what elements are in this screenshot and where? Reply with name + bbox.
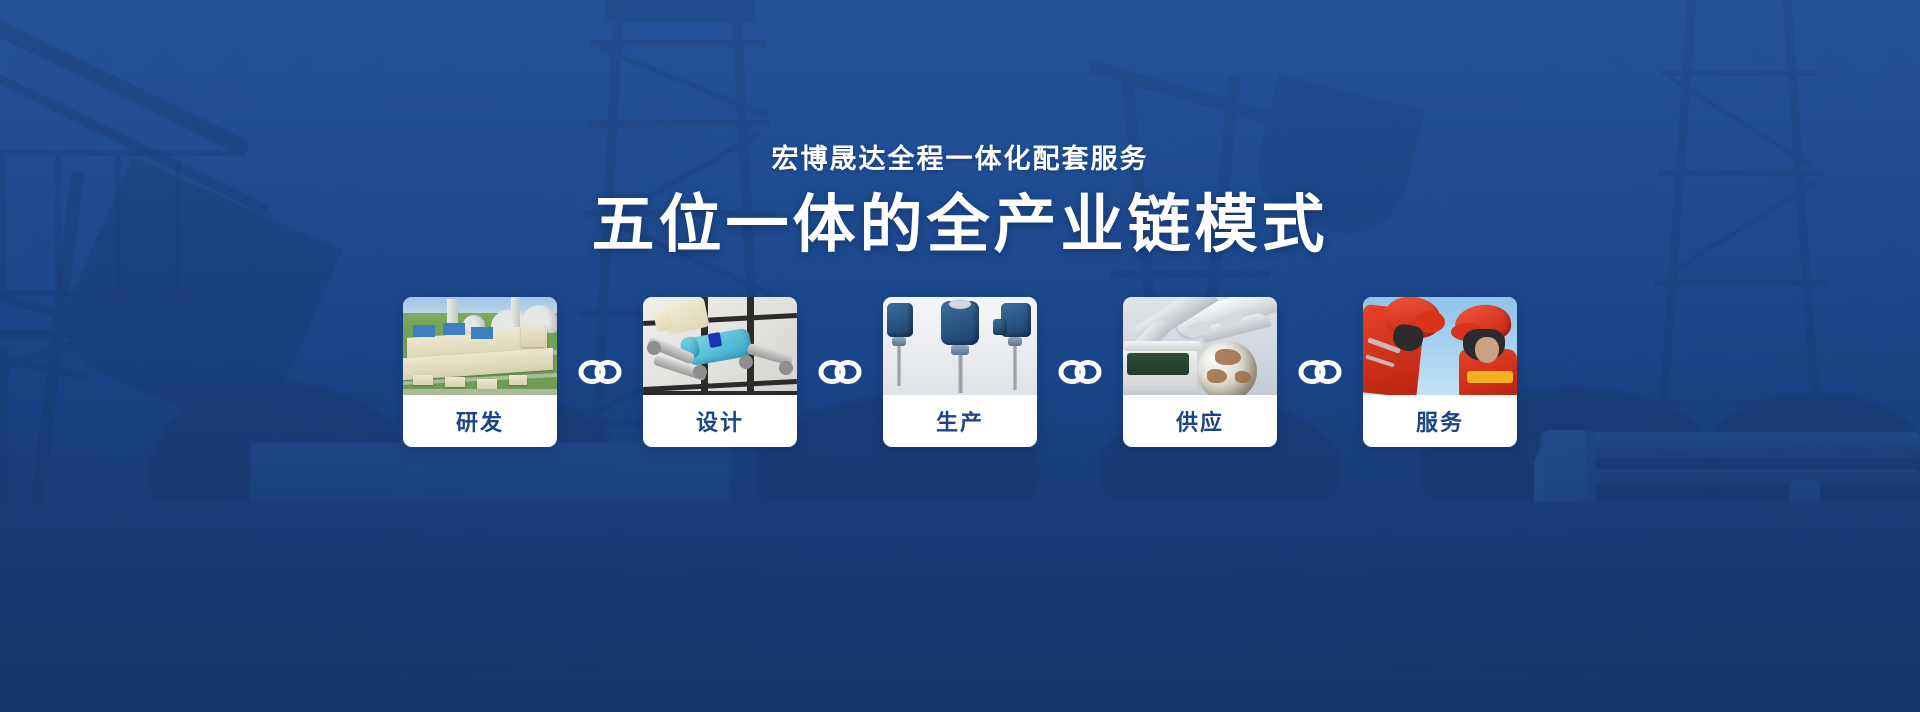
chain-card-image-service [1363,297,1517,395]
chain-card-design[interactable]: 设计 [643,297,797,447]
chain-card-image-design [643,297,797,395]
chain-link-icon-1 [557,357,643,387]
banner-subtitle: 宏博晟达全程一体化配套服务 [772,146,1149,173]
chain-card-production[interactable]: 生产 [883,297,1037,447]
chain-card-label-service: 服务 [1363,395,1517,447]
hero-banner: 宏博晟达全程一体化配套服务 五位一体的全产业链模式 [0,0,1920,712]
chain-card-image-research [403,297,557,395]
chain-card-label-production: 生产 [883,395,1037,447]
chain-card-supply[interactable]: 供应 [1123,297,1277,447]
value-chain-row: 研发 [403,297,1517,447]
banner-content: 宏博晟达全程一体化配套服务 五位一体的全产业链模式 [0,0,1920,712]
chain-card-research[interactable]: 研发 [403,297,557,447]
chain-link-icon-2 [797,357,883,387]
banner-title: 五位一体的全产业链模式 [592,194,1329,257]
chain-card-image-production [883,297,1037,395]
chain-card-service[interactable]: 服务 [1363,297,1517,447]
chain-card-label-design: 设计 [643,395,797,447]
chain-link-icon-4 [1277,357,1363,387]
chain-card-image-supply [1123,297,1277,395]
chain-card-label-supply: 供应 [1123,395,1277,447]
chain-link-icon-3 [1037,357,1123,387]
chain-card-label-research: 研发 [403,395,557,447]
